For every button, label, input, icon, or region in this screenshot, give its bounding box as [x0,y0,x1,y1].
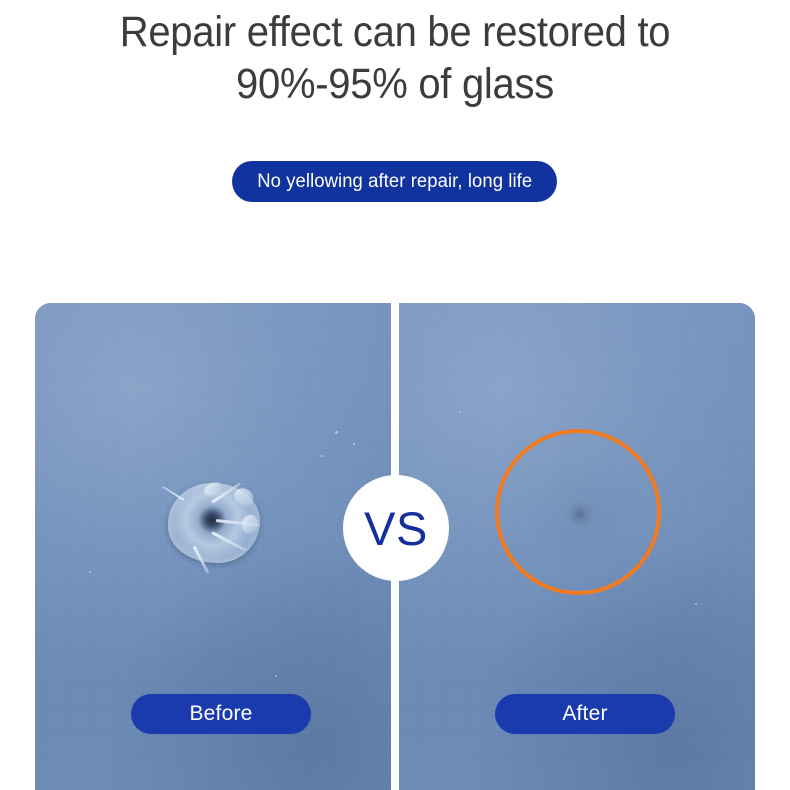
feature-badge: No yellowing after repair, long life [232,161,557,202]
headline-line-1: Repair effect can be restored to [28,6,763,58]
badge-row: No yellowing after repair, long life [0,161,790,202]
vs-badge: VS [343,475,449,581]
after-photo-panel: After [399,303,755,790]
after-caption-pill: After [495,694,675,734]
before-photo-panel: Before [35,303,391,790]
glass-damage-chip [160,475,278,575]
before-caption-pill: Before [131,694,311,734]
promo-banner: Repair effect can be restored to 90%-95%… [0,0,790,790]
page-title: Repair effect can be restored to 90%-95%… [28,6,763,110]
highlight-circle-annotation [495,429,661,595]
headline-line-2: 90%-95% of glass [28,58,763,110]
